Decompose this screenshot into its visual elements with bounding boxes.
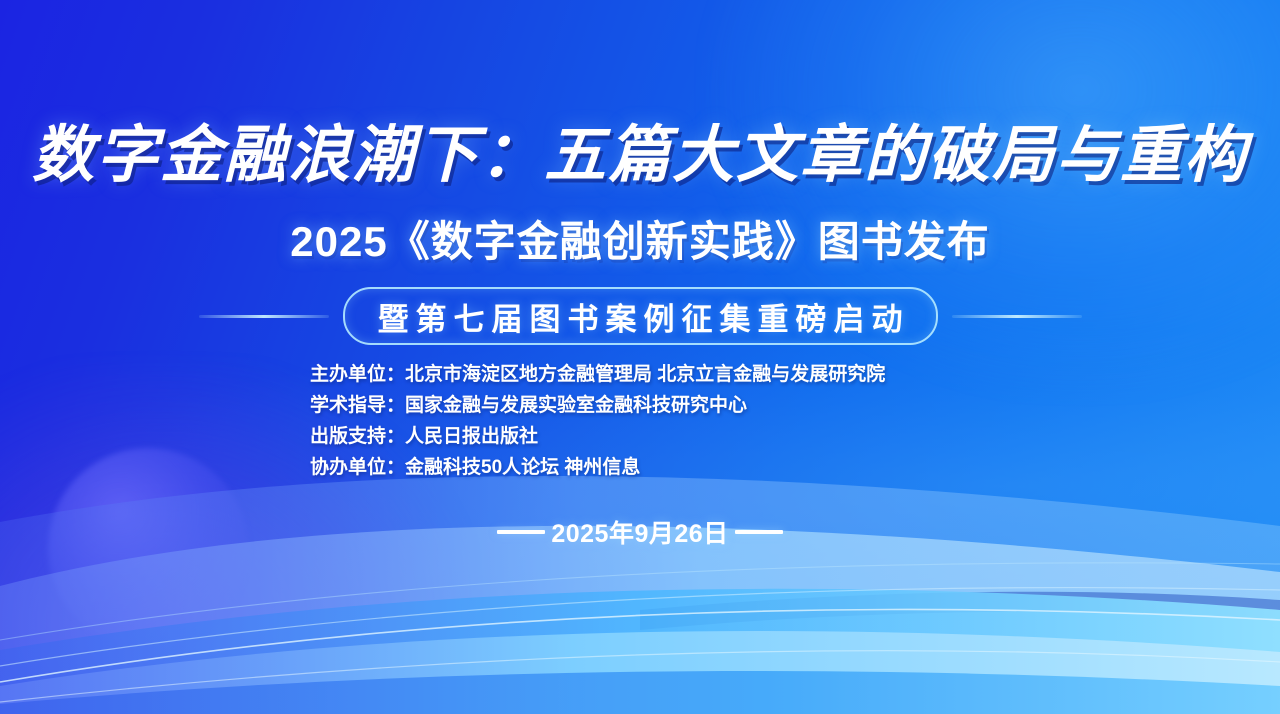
- page-title: 数字金融浪潮下：五篇大文章的破局与重构: [0, 104, 1280, 194]
- organizer-line-academic: 学术指导：国家金融与发展实验室金融科技研究中心: [310, 391, 970, 421]
- capsule-badge: 暨第七届图书案例征集重磅启动: [343, 287, 938, 345]
- date-dash-right-icon: [735, 530, 783, 534]
- organizer-line-publisher: 出版支持：人民日报出版社: [310, 422, 970, 452]
- organizer-line-host: 主办单位：北京市海淀区地方金融管理局 北京立言金融与发展研究院: [310, 360, 970, 390]
- organizer-list: 主办单位：北京市海淀区地方金融管理局 北京立言金融与发展研究院 学术指导：国家金…: [0, 360, 1280, 483]
- capsule-headline-row: 暨第七届图书案例征集重磅启动: [0, 288, 1280, 344]
- capsule-label: 暨第七届图书案例征集重磅启动: [371, 294, 910, 339]
- organizer-line-co-host: 协办单位：金融科技50人论坛 神州信息: [310, 453, 970, 483]
- event-date: 2025年9月26日: [551, 514, 728, 550]
- poster-canvas: 数字金融浪潮下：五篇大文章的破局与重构 2025《数字金融创新实践》图书发布 暨…: [0, 0, 1280, 714]
- rule-left: [199, 315, 329, 318]
- poster-content: 数字金融浪潮下：五篇大文章的破局与重构 2025《数字金融创新实践》图书发布 暨…: [0, 0, 1280, 714]
- date-dash-left-icon: [497, 530, 545, 534]
- rule-right: [952, 315, 1082, 318]
- poster-subtitle: 2025《数字金融创新实践》图书发布: [0, 208, 1280, 269]
- event-date-row: 2025年9月26日: [0, 514, 1280, 550]
